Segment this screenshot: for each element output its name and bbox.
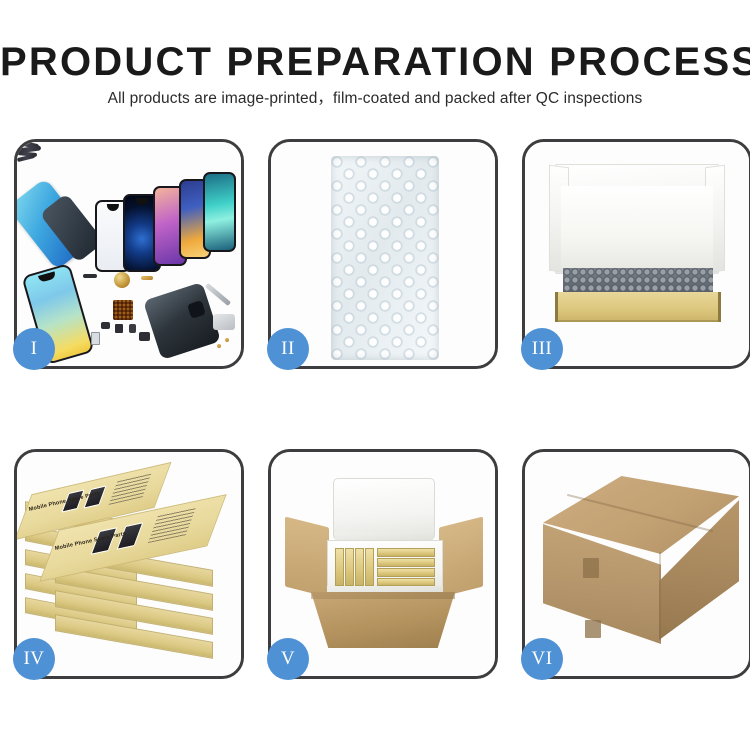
- step-3-illustration: [525, 142, 749, 366]
- carton-flap-right: [439, 517, 483, 598]
- small-part-4: [129, 324, 136, 333]
- packed-box-bar-h2: [377, 558, 435, 567]
- small-screw-1: [217, 344, 221, 348]
- carton-flap-left: [285, 517, 329, 598]
- packed-box-bar-2: [345, 548, 354, 586]
- foam-sheet: [561, 186, 713, 268]
- step-badge-3: III: [521, 328, 563, 370]
- step-4-illustration: Mobile Phone Spare Parts Mobile Phone Sp…: [17, 452, 241, 676]
- gold-disc: [114, 272, 130, 288]
- battery-connector: [91, 332, 100, 345]
- step-badge-4: IV: [13, 638, 55, 680]
- phone-back-housing: [143, 282, 221, 360]
- step-badge-5: V: [267, 638, 309, 680]
- styrofoam-lid: [333, 478, 435, 540]
- packed-box-bar-1: [335, 548, 344, 586]
- packed-box-bar-4: [365, 548, 374, 586]
- process-step-panel-1[interactable]: I: [14, 139, 244, 369]
- step-2-illustration: [271, 142, 495, 366]
- box-front-yellow: [555, 292, 721, 322]
- notch: [107, 204, 119, 211]
- process-step-panel-2[interactable]: II: [268, 139, 498, 369]
- notch: [136, 198, 149, 205]
- carton-tape-patch-top: [583, 558, 599, 578]
- step-6-illustration: [525, 452, 749, 676]
- carton-front-shadow: [311, 592, 455, 599]
- small-part-2: [101, 322, 110, 329]
- step-1-illustration: [17, 142, 241, 366]
- packed-box-bar-h3: [377, 568, 435, 577]
- bubble-wrap-sheet: [331, 156, 439, 360]
- process-step-panel-6[interactable]: VI: [522, 449, 750, 679]
- packed-box-bar-h1: [377, 548, 435, 557]
- process-step-grid: I II III: [0, 0, 750, 750]
- small-screw-2: [225, 338, 229, 342]
- tweezers-tool: [213, 314, 235, 330]
- box-edge-left: [555, 292, 558, 322]
- speaker-part: [139, 332, 150, 341]
- carton-tape-patch-bottom: [585, 620, 601, 638]
- step-badge-2: II: [267, 328, 309, 370]
- box-edge-bottom: [555, 320, 721, 322]
- step-5-illustration: [271, 452, 495, 676]
- chip-grid-part: [113, 300, 133, 320]
- step-badge-1: I: [13, 328, 55, 370]
- step-badge-6: VI: [521, 638, 563, 680]
- carton-corner-edge: [659, 552, 661, 640]
- notch: [38, 271, 57, 283]
- process-step-panel-4[interactable]: Mobile Phone Spare Parts Mobile Phone Sp…: [14, 449, 244, 679]
- box-edge-right: [718, 292, 721, 322]
- grey-padding: [563, 268, 713, 292]
- small-part-3: [115, 324, 123, 333]
- packed-box-bar-h4: [377, 578, 435, 586]
- small-part-1: [83, 274, 97, 278]
- phone-display-teal: [203, 172, 236, 252]
- small-part-gold-1: [141, 276, 153, 280]
- packed-box-bar-3: [355, 548, 364, 586]
- process-step-panel-5[interactable]: V: [268, 449, 498, 679]
- carton-front: [311, 592, 455, 648]
- process-step-panel-3[interactable]: III: [522, 139, 750, 369]
